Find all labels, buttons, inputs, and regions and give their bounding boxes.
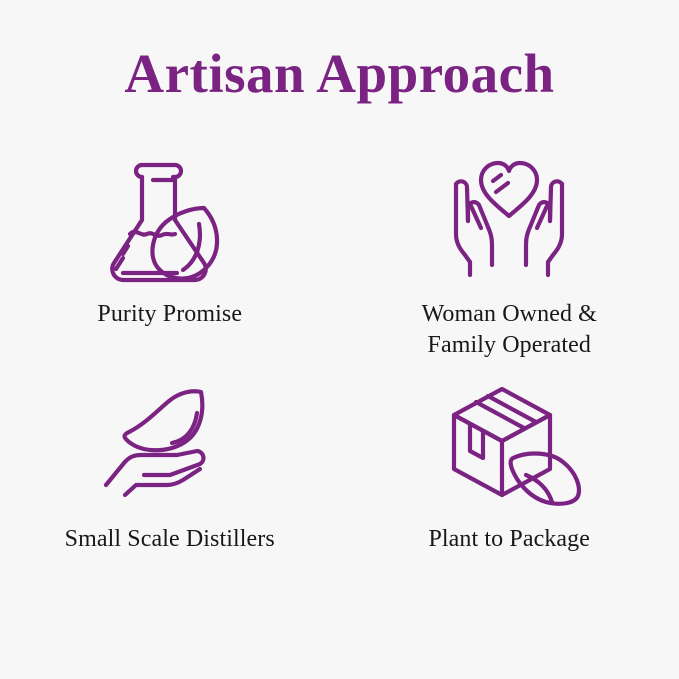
hands-heart-icon: [434, 150, 584, 285]
hand-leaf-icon: [95, 382, 245, 502]
feature-label: Plant to Package: [428, 524, 590, 555]
feature-woman-owned: Woman Owned & Family Operated: [340, 150, 679, 382]
feature-label: Woman Owned & Family Operated: [422, 299, 597, 360]
box-leaf-icon: [434, 382, 584, 502]
feature-small-scale-distillers: Small Scale Distillers: [0, 382, 340, 608]
flask-leaf-icon: [95, 150, 245, 285]
page-title: Artisan Approach: [0, 44, 679, 103]
feature-label: Purity Promise: [97, 299, 242, 330]
artisan-approach-panel: Artisan Approach: [0, 0, 679, 679]
feature-label: Small Scale Distillers: [65, 524, 275, 555]
feature-purity-promise: Purity Promise: [0, 150, 340, 382]
feature-grid: Purity Promise: [0, 150, 679, 650]
feature-plant-to-package: Plant to Package: [340, 382, 679, 608]
